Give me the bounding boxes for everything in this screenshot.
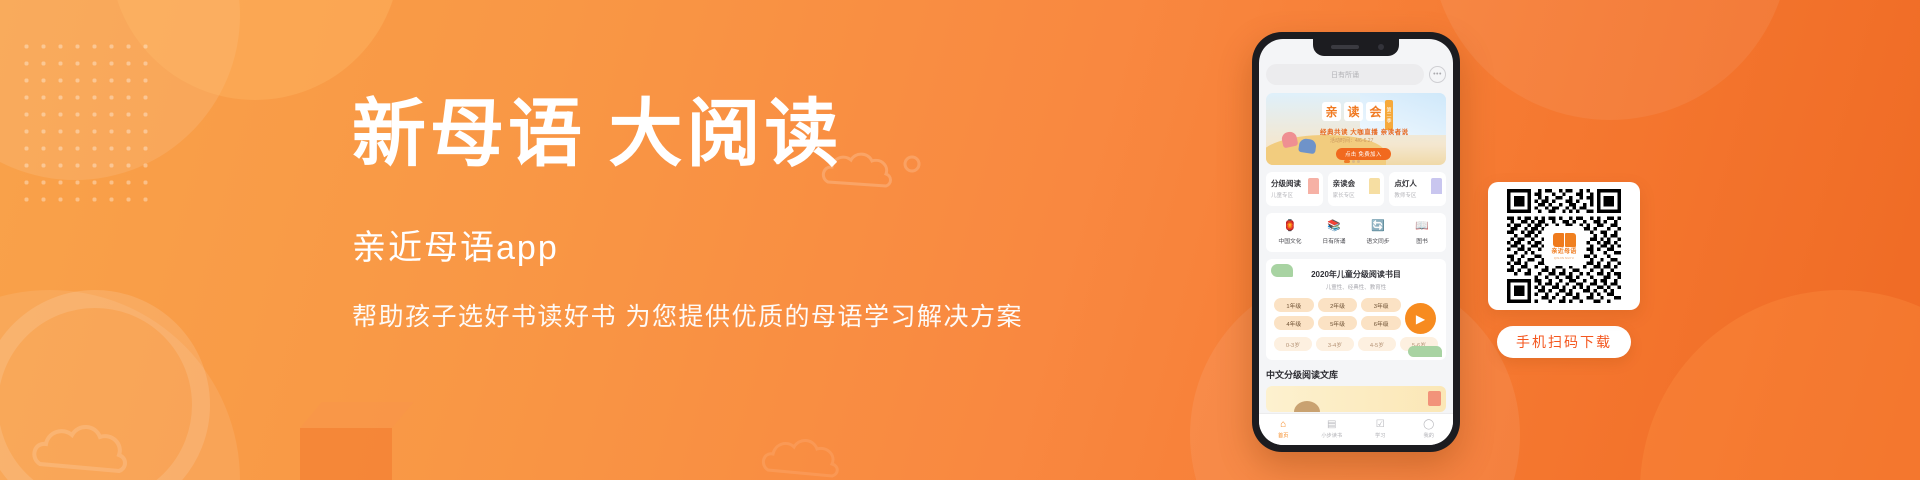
decor-circle-top-left [0,0,240,180]
app-search-bar[interactable]: 日有所诵 ••• [1266,64,1446,85]
book-icon: ▤ [1308,420,1357,430]
phone-screen: 日有所诵 ••• 亲 读 会 第二季 经典共读 大咖直播 亲读者说 活动时 [1259,39,1453,445]
grade-chip[interactable]: 5年级 [1318,316,1358,330]
tab-label: 学习 [1356,432,1405,439]
brand-pinyin: QINJIN MUYU [1554,257,1574,260]
decor-circle-top-right [1430,0,1790,120]
grade-chip[interactable]: 3年级 [1361,298,1401,312]
decor-circle-bottom-right [1640,290,1920,480]
hero-title-char-2: 读 [1344,102,1363,121]
books-icon: 📖 [1400,221,1444,232]
tab-home[interactable]: ⌂ 首页 [1259,420,1308,439]
brand-book-icon [1553,233,1576,247]
banner-subtitle: 亲近母语app [352,220,1032,269]
banner-copy: 新母语 大阅读 亲近母语app 帮助孩子选好书读好书 为您提供优质的母语学习解决… [352,96,1032,333]
quick-link-label: 中国文化 [1268,236,1312,245]
hero-subtitle: 经典共读 大咖直播 亲读者说 [1320,126,1409,136]
grade-chip[interactable]: 6年级 [1361,316,1401,330]
search-input[interactable]: 日有所诵 [1266,64,1424,85]
qr-code: 亲近母语 QINJIN MUYU [1495,189,1633,303]
library-card[interactable] [1266,386,1446,412]
tab-reading[interactable]: ▤ 小步读书 [1308,420,1357,439]
bookmark-icon [1369,178,1380,194]
grade-chip[interactable]: 1年级 [1274,298,1314,312]
hero-join-button[interactable]: 点击 免费加入 [1336,148,1391,160]
hero-title-char-1: 亲 [1322,102,1341,121]
more-options-icon[interactable]: ••• [1429,66,1446,83]
hero-title-char-3: 会 [1366,102,1385,121]
carousel-dot-active[interactable] [1344,160,1350,163]
quick-link-books[interactable]: 📖 图书 [1400,221,1444,245]
cloud-shape-icon [1431,178,1442,194]
quick-link-label: 图书 [1400,236,1444,245]
culture-icon: 🏮 [1268,221,1312,232]
quick-link-culture[interactable]: 🏮 中国文化 [1268,221,1312,245]
carousel-dot[interactable] [1352,160,1355,163]
decor-circle-top-left-2 [110,0,400,100]
booklist-subtitle: 儿童性、经典性、教育性 [1274,283,1438,291]
bookmark-icon [1308,178,1319,194]
quick-link-sync[interactable]: 🔄 语文同步 [1356,221,1400,245]
phone-notch [1313,39,1399,56]
hero-promo-card[interactable]: 亲 读 会 第二季 经典共读 大咖直播 亲读者说 活动时间：4/6-6.27 点… [1266,93,1446,165]
nav-card-parent-club[interactable]: 亲读会 家长专区 [1328,172,1385,206]
decor-cube [300,428,392,480]
qr-card: 亲近母语 QINJIN MUYU [1488,182,1640,310]
library-tag-icon [1428,391,1441,406]
camera-icon [1378,44,1384,50]
quick-link-label: 语文同步 [1356,236,1400,245]
library-illustration [1294,401,1320,412]
qr-block: 亲近母语 QINJIN MUYU 手机扫码下载 [1488,182,1640,358]
carousel-dots[interactable] [1344,160,1360,163]
sync-icon: 🔄 [1356,221,1400,232]
booklist-title: 2020年儿童分级阅读书目 [1274,269,1438,280]
tab-label: 我的 [1405,432,1454,439]
download-button[interactable]: 手机扫码下载 [1497,326,1631,358]
quick-link-label: 日有所诵 [1312,236,1356,245]
decor-circle-bottom-left [0,290,240,480]
qr-center-logo: 亲近母语 QINJIN MUYU [1544,226,1584,266]
quick-icon-row: 🏮 中国文化 📚 日有所诵 🔄 语文同步 📖 图书 [1266,213,1446,252]
nav-card-graded-reading[interactable]: 分级阅读 儿童专区 [1266,172,1323,206]
leaf-icon-2 [1408,346,1442,357]
user-icon: ◯ [1405,420,1454,430]
speaker-icon [1331,45,1359,49]
tab-profile[interactable]: ◯ 我的 [1405,420,1454,439]
leaf-icon [1271,264,1293,277]
hero-title: 亲 读 会 [1322,102,1385,121]
hero-child-figure-1 [1281,131,1299,149]
age-chip[interactable]: 4-5岁 [1358,337,1396,351]
grade-chip[interactable]: 2年级 [1318,298,1358,312]
page-title: 新母语 大阅读 [352,96,1032,176]
tab-label: 首页 [1259,432,1308,439]
age-chip[interactable]: 3-4岁 [1316,337,1354,351]
bottom-tab-bar: ⌂ 首页 ▤ 小步读书 ☑ 学习 ◯ 我的 [1259,413,1453,445]
age-chip[interactable]: 0-3岁 [1274,337,1312,351]
library-section-title: 中文分级阅读文库 [1266,368,1446,381]
tab-label: 小步读书 [1308,432,1357,439]
hero-child-figure-2 [1298,138,1317,154]
checklist-icon: ☑ [1356,420,1405,430]
decor-ring-bottom-left [0,290,210,480]
nav-card-teacher-zone[interactable]: 点灯人 教师专区 [1389,172,1446,206]
quick-link-recite[interactable]: 📚 日有所诵 [1312,221,1356,245]
hero-date: 活动时间：4/6-6.27 [1330,137,1373,144]
recite-icon: 📚 [1312,221,1356,232]
carousel-dot[interactable] [1357,160,1360,163]
home-icon: ⌂ [1259,420,1308,430]
decor-dot-grid [18,38,148,208]
nav-card-row: 分级阅读 儿童专区 亲读会 家长专区 点灯人 教师专区 [1266,172,1446,206]
booklist-card[interactable]: 2020年儿童分级阅读书目 儿童性、经典性、教育性 1年级 2年级 3年级 4年… [1266,259,1446,360]
decor-cloud-icon-2 [30,414,180,474]
tab-study[interactable]: ☑ 学习 [1356,420,1405,439]
decor-cloud-icon-3 [760,432,880,478]
banner-tagline: 帮助孩子选好书读好书 为您提供优质的母语学习解决方案 [352,297,1032,333]
grade-chip[interactable]: 4年级 [1274,316,1314,330]
play-video-icon[interactable]: ▶ [1405,303,1436,334]
promo-banner: 新母语 大阅读 亲近母语app 帮助孩子选好书读好书 为您提供优质的母语学习解决… [0,0,1920,480]
phone-mockup: 日有所诵 ••• 亲 读 会 第二季 经典共读 大咖直播 亲读者说 活动时 [1252,32,1460,452]
brand-name: 亲近母语 [1551,249,1576,255]
